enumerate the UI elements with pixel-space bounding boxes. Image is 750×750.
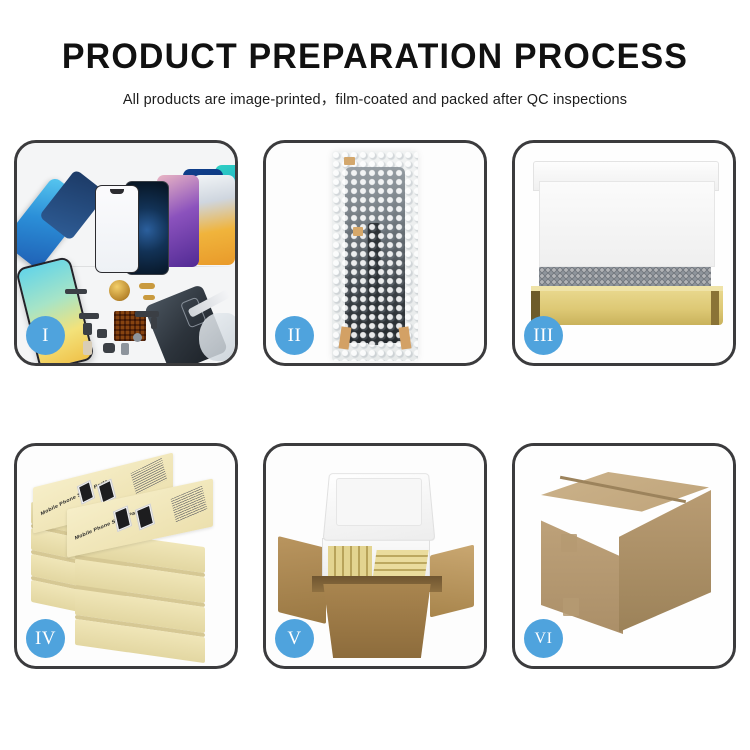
header: PRODUCT PREPARATION PROCESS All products…	[0, 0, 750, 109]
step-panel-3: III	[512, 140, 736, 366]
process-steps-grid: I II	[14, 140, 736, 669]
box-label-text: Mobile Phone Spare Parts	[74, 507, 143, 541]
step-panel-2: II	[263, 140, 487, 366]
step-3-illustration: III	[515, 143, 733, 363]
step-panel-5: V	[263, 443, 487, 669]
component-chip-icon	[65, 289, 87, 294]
component-chip-icon	[83, 323, 92, 335]
speaker-module-icon	[109, 280, 130, 301]
step-panel-4: Mobile Phone Spare Parts Mobile Phone Sp…	[14, 443, 238, 669]
carton-body-icon	[316, 584, 438, 658]
ribbon-cable-icon	[151, 317, 157, 329]
box-product-photo	[77, 480, 95, 505]
connector-icon	[83, 341, 92, 355]
step-4-illustration: Mobile Phone Spare Parts Mobile Phone Sp…	[17, 446, 235, 666]
step-badge-2: II	[275, 316, 314, 355]
step-badge-3: III	[524, 316, 563, 355]
foam-lid-inner-icon	[336, 478, 422, 526]
hand-icon	[199, 313, 235, 361]
box-product-photo	[135, 503, 155, 530]
flex-cable-icon	[139, 283, 155, 289]
step-panel-1: I	[14, 140, 238, 366]
step-badge-4: IV	[26, 619, 65, 658]
box-product-photo	[113, 505, 132, 532]
flex-cable-icon	[143, 295, 155, 300]
glass-panel-icon	[95, 185, 139, 273]
button-icon	[133, 333, 142, 342]
step-1-illustration: I	[17, 143, 235, 363]
gold-phone-icon	[193, 175, 235, 265]
box-spec-lines	[171, 486, 207, 523]
tape-piece-icon	[353, 227, 363, 236]
step-badge-6: VI	[524, 619, 563, 658]
sim-tray-icon	[121, 343, 129, 355]
step-badge-1: I	[26, 316, 65, 355]
product-preparation-infographic: PRODUCT PREPARATION PROCESS All products…	[0, 0, 750, 750]
page-title: PRODUCT PREPARATION PROCESS	[11, 38, 739, 77]
yellow-inner-box-icon	[531, 291, 723, 325]
camera-module-icon	[103, 343, 115, 353]
step-5-illustration: V	[266, 446, 484, 666]
tape-piece-icon	[563, 598, 579, 616]
step-panel-6: VI	[512, 443, 736, 669]
page-subtitle: All products are image-printed，film-coat…	[0, 88, 750, 109]
tape-piece-icon	[561, 534, 577, 552]
step-badge-5: V	[275, 619, 314, 658]
foam-sheet-icon	[539, 181, 715, 267]
step-6-illustration: VI	[515, 446, 733, 666]
tape-piece-icon	[344, 157, 355, 165]
step-2-illustration: II	[266, 143, 484, 363]
box-side-icon	[711, 291, 719, 325]
component-chip-icon	[79, 313, 99, 319]
component-chip-icon	[97, 329, 107, 338]
